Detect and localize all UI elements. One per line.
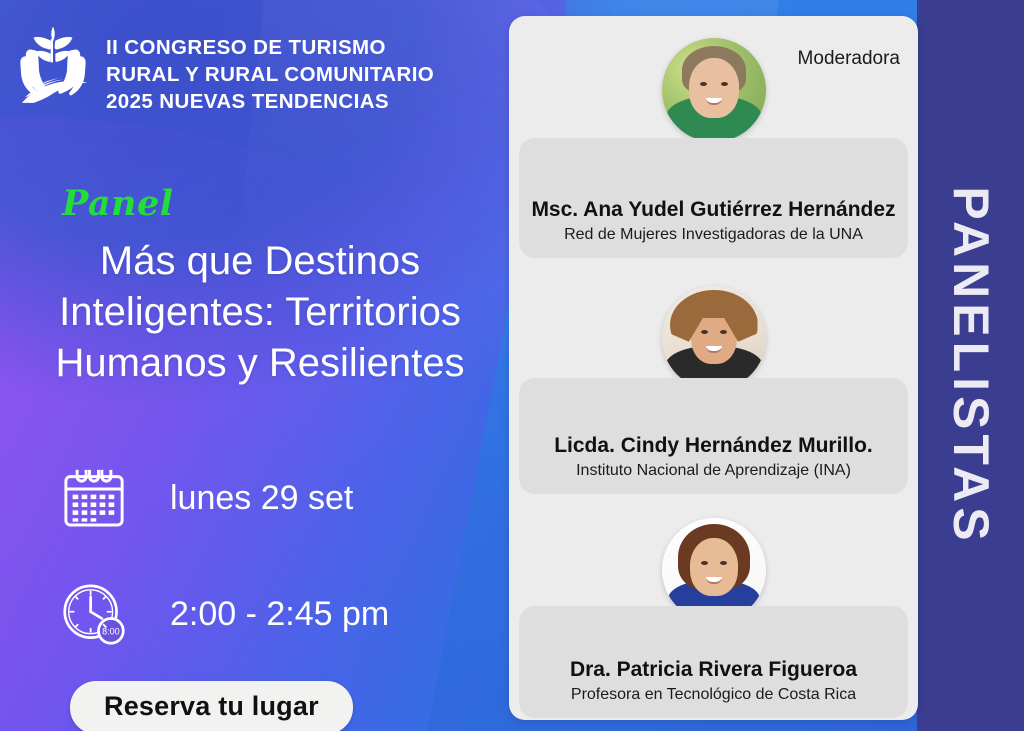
- brand-title-line-3: 2025 NUEVAS TENDENCIAS: [106, 88, 434, 115]
- panelist-name: Licda. Cindy Hernández Murillo.: [554, 433, 873, 459]
- clock-icon: 8:00: [58, 578, 130, 650]
- panelist-card[interactable]: Licda. Cindy Hernández Murillo. Institut…: [509, 268, 918, 502]
- panelist-org: Red de Mujeres Investigadoras de la UNA: [564, 226, 863, 244]
- session-kicker: Panel: [62, 183, 174, 224]
- panelist-org: Instituto Nacional de Aprendizaje (INA): [576, 462, 851, 480]
- panelist-card[interactable]: Dra. Patricia Rivera Figueroa Profesora …: [509, 502, 918, 720]
- session-date-row: lunes 29 set: [58, 462, 353, 534]
- brand-title: II CONGRESO DE TURISMO RURAL Y RURAL COM…: [106, 34, 434, 115]
- avatar: [662, 286, 766, 390]
- brand-title-line-2: RURAL Y RURAL COMUNITARIO: [106, 61, 434, 88]
- avatar: [662, 38, 766, 142]
- panelists-side-label: PANELISTAS: [942, 186, 1000, 545]
- panelist-info: Dra. Patricia Rivera Figueroa Profesora …: [519, 606, 908, 718]
- panelist-card[interactable]: Moderadora Msc. Ana Yudel Gutiérrez Hern…: [509, 16, 918, 268]
- session-date-text: lunes 29 set: [170, 479, 353, 518]
- session-time-text: 2:00 - 2:45 pm: [170, 595, 389, 634]
- calendar-icon: [58, 462, 130, 534]
- session-title: Más que Destinos Inteligentes: Territori…: [30, 236, 490, 390]
- panelists-side-band: PANELISTAS: [917, 0, 1024, 731]
- panelist-info: Licda. Cindy Hernández Murillo. Institut…: [519, 378, 908, 494]
- panelist-name: Msc. Ana Yudel Gutiérrez Hernández: [531, 197, 895, 223]
- session-title-line-1: Más que Destinos: [30, 236, 490, 287]
- brand-header: II CONGRESO DE TURISMO RURAL Y RURAL COM…: [14, 22, 434, 115]
- poster-canvas: II CONGRESO DE TURISMO RURAL Y RURAL COM…: [0, 0, 1024, 731]
- panelist-name: Dra. Patricia Rivera Figueroa: [570, 657, 857, 683]
- panelist-info: Msc. Ana Yudel Gutiérrez Hernández Red d…: [519, 138, 908, 258]
- brand-title-line-1: II CONGRESO DE TURISMO: [106, 34, 434, 61]
- hands-plant-field-logo-icon: [14, 22, 92, 106]
- session-title-line-2: Inteligentes: Territorios: [30, 287, 490, 338]
- reserve-spot-button[interactable]: Reserva tu lugar: [70, 681, 353, 731]
- session-title-line-3: Humanos y Resilientes: [30, 338, 490, 389]
- panelists-panel: Moderadora Msc. Ana Yudel Gutiérrez Hern…: [509, 16, 918, 720]
- session-time-row: 8:00 2:00 - 2:45 pm: [58, 578, 389, 650]
- panelist-org: Profesora en Tecnológico de Costa Rica: [571, 686, 856, 704]
- moderator-role-label: Moderadora: [798, 48, 900, 70]
- svg-text:8:00: 8:00: [102, 626, 120, 636]
